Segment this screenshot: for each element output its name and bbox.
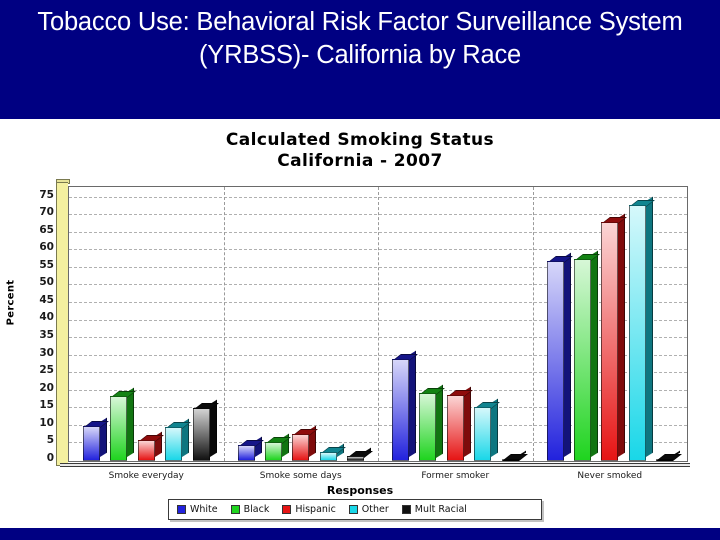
y-axis-tick-label: 45 (39, 294, 54, 306)
bar (320, 452, 337, 461)
gridline-vertical (224, 187, 225, 461)
bar (292, 434, 309, 461)
y-axis-tick-label: 55 (39, 259, 54, 271)
bar-face (320, 452, 337, 461)
slide: Tobacco Use: Behavioral Risk Factor Surv… (0, 0, 720, 540)
chart-legend: WhiteBlackHispanicOtherMult Racial (168, 499, 542, 520)
legend-swatch-icon (402, 505, 411, 514)
x-axis-tick-label: Smoke everyday (109, 471, 184, 481)
bar (265, 442, 282, 461)
bar-side (127, 388, 134, 457)
bar-side (436, 384, 443, 457)
bar (165, 427, 182, 461)
bar-face (265, 442, 282, 461)
y-axis-tick-label: 0 (47, 452, 54, 464)
bar-face (474, 407, 491, 461)
legend-item: Black (231, 504, 270, 515)
y-axis-tick-label: 5 (47, 434, 54, 446)
chart-title-line1: Calculated Smoking Status (0, 130, 720, 151)
bar (502, 459, 519, 461)
legend-item: Other (349, 504, 389, 515)
bar (447, 395, 464, 461)
legend-item: White (177, 504, 218, 515)
bar (83, 426, 100, 461)
y-axis-tick-label: 50 (39, 276, 54, 288)
bar (547, 261, 564, 461)
legend-label: White (190, 504, 218, 515)
title-banner: Tobacco Use: Behavioral Risk Factor Surv… (0, 0, 720, 119)
bar (574, 259, 591, 461)
legend-label: Black (244, 504, 270, 515)
y-axis-tick-label: 10 (39, 417, 54, 429)
bar (238, 445, 255, 461)
bar-face (629, 205, 646, 461)
bar-face (601, 222, 618, 461)
bar-face (193, 408, 210, 461)
bar-side (564, 252, 571, 457)
page-title: Tobacco Use: Behavioral Risk Factor Surv… (15, 6, 705, 72)
y-axis-title: Percent (5, 280, 16, 326)
y-axis-labels: 051015202530354045505560657075 (22, 182, 54, 466)
y-axis-band (56, 182, 68, 466)
bar (474, 407, 491, 461)
bar-side (464, 387, 471, 457)
y-axis-tick-label: 70 (39, 206, 54, 218)
legend-swatch-icon (231, 505, 240, 514)
bar-face (110, 396, 127, 461)
bar-side (409, 351, 416, 457)
bar-face (138, 440, 155, 461)
bar (347, 456, 364, 461)
chart-container: Calculated Smoking Status California - 2… (0, 122, 720, 526)
bar (629, 205, 646, 461)
x-axis-tick-label: Smoke some days (260, 471, 342, 481)
bar (138, 440, 155, 461)
bar-face (392, 359, 409, 461)
legend-item: Hispanic (282, 504, 335, 515)
plot-area (68, 186, 688, 462)
bar-face (656, 459, 673, 461)
footer-bar (0, 528, 720, 540)
legend-item: Mult Racial (402, 504, 467, 515)
x-axis-tick-label: Never smoked (577, 471, 642, 481)
y-axis-tick-label: 60 (39, 241, 54, 253)
x-axis-base (60, 463, 690, 467)
chart-title-line2: California - 2007 (0, 151, 720, 172)
y-axis-tick-label: 65 (39, 224, 54, 236)
legend-swatch-icon (349, 505, 358, 514)
x-axis-tick-label: Former smoker (421, 471, 489, 481)
bar (110, 396, 127, 461)
bar-side (646, 196, 653, 457)
y-axis-tick-label: 20 (39, 382, 54, 394)
legend-label: Other (362, 504, 389, 515)
bar-face (83, 426, 100, 461)
bar (193, 408, 210, 461)
y-axis-tick-label: 30 (39, 347, 54, 359)
bar-face (547, 261, 564, 461)
legend-label: Mult Racial (415, 504, 467, 515)
bar-face (165, 427, 182, 461)
bar-face (419, 393, 436, 462)
bar (601, 222, 618, 461)
bar-face (347, 456, 364, 461)
bar (392, 359, 409, 461)
bar-face (574, 259, 591, 461)
chart-title: Calculated Smoking Status California - 2… (0, 130, 720, 172)
bar-face (447, 395, 464, 461)
bar-face (238, 445, 255, 461)
legend-swatch-icon (177, 505, 186, 514)
x-axis-title: Responses (0, 484, 720, 497)
gridline-vertical (533, 187, 534, 461)
bar-face (292, 434, 309, 461)
bar-face (502, 459, 519, 461)
gridline-vertical (378, 187, 379, 461)
y-axis-tick-label: 40 (39, 311, 54, 323)
legend-swatch-icon (282, 505, 291, 514)
y-axis-tick-label: 15 (39, 399, 54, 411)
bar-side (618, 214, 625, 457)
bar (419, 393, 436, 462)
y-axis-tick-label: 25 (39, 364, 54, 376)
bar-side (591, 251, 598, 457)
y-axis-tick-label: 75 (39, 189, 54, 201)
legend-label: Hispanic (295, 504, 335, 515)
bar (656, 459, 673, 461)
y-axis-tick-label: 35 (39, 329, 54, 341)
